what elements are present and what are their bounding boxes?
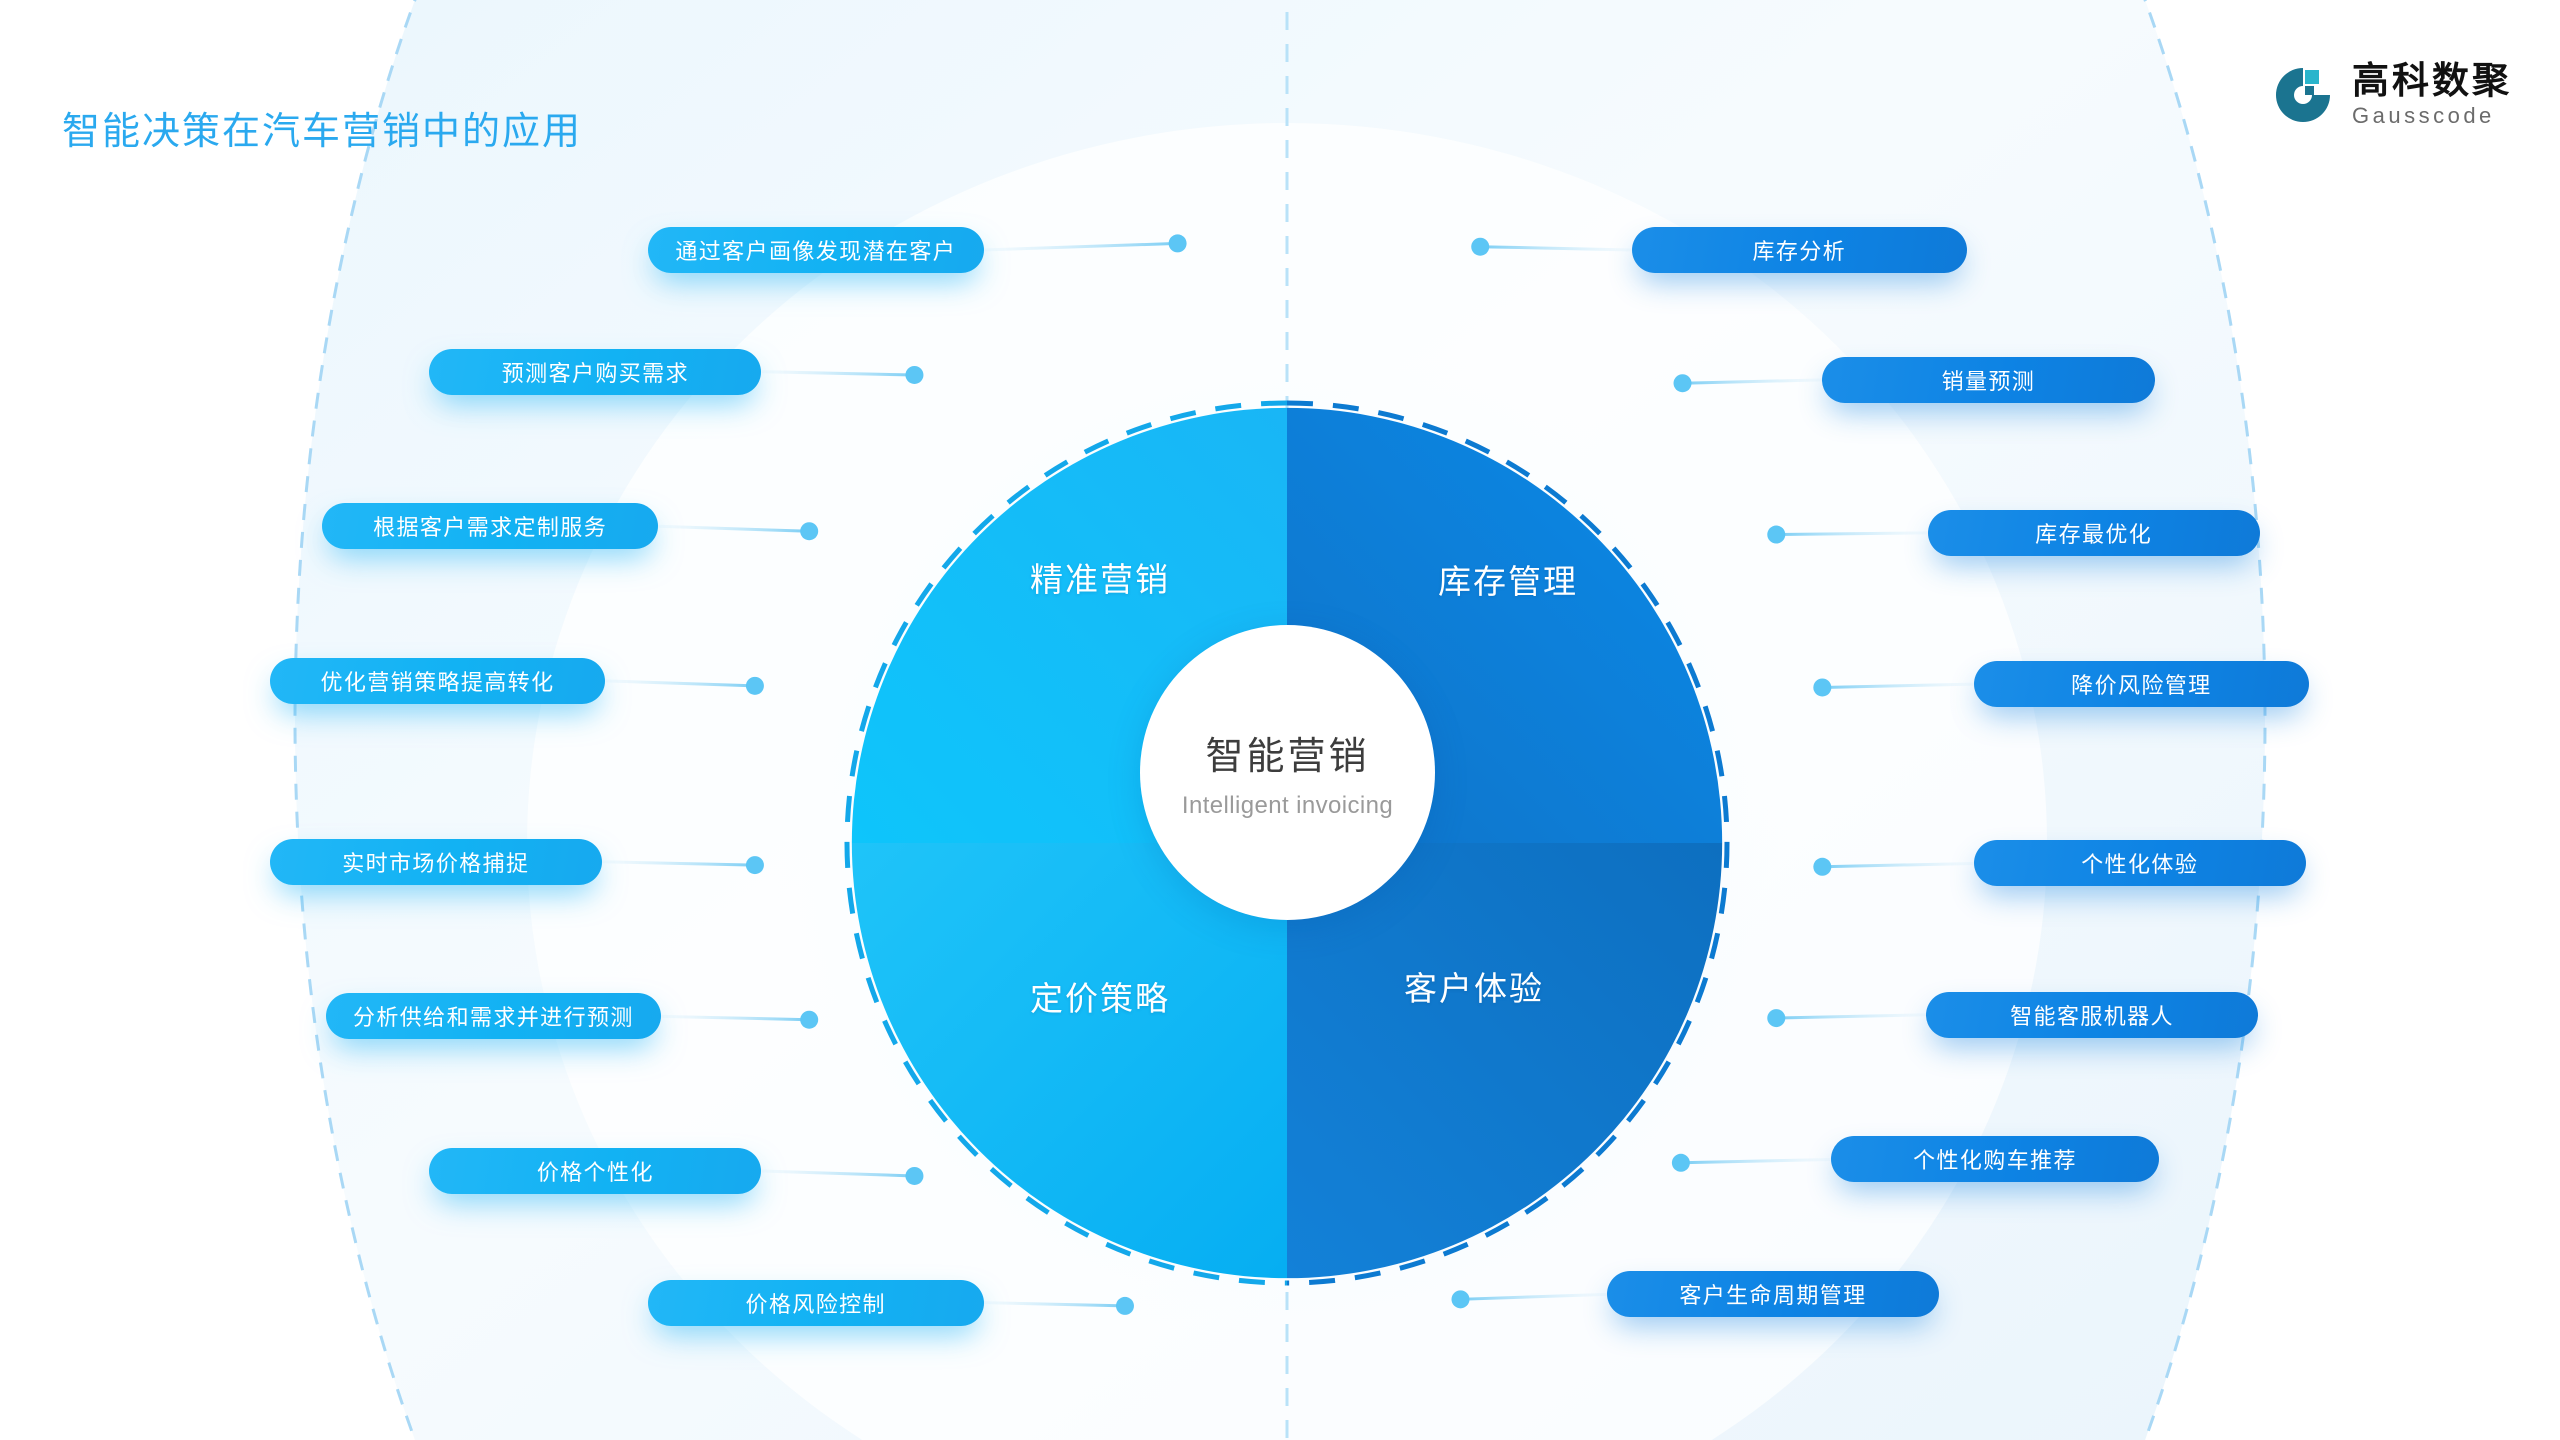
right-connector-dot-4: [1813, 678, 1831, 696]
page-title: 智能决策在汽车营销中的应用: [62, 100, 582, 155]
quadrant-bottom-right[interactable]: [1287, 843, 1722, 1278]
right-connector-dot-3: [1767, 526, 1785, 544]
left-connector-dot-1: [1169, 234, 1187, 252]
right-item-2[interactable]: 销量预测: [1822, 357, 2154, 403]
gausscode-logo-icon: [2272, 64, 2334, 126]
right-item-4[interactable]: 降价风险管理: [1974, 661, 2310, 707]
quadrant-bottom-left[interactable]: [852, 843, 1287, 1278]
right-connector-dot-5: [1813, 858, 1831, 876]
left-item-5[interactable]: 实时市场价格捕捉: [270, 839, 602, 885]
left-item-3[interactable]: 根据客户需求定制服务: [322, 503, 658, 549]
right-item-3[interactable]: 库存最优化: [1928, 510, 2260, 556]
right-item-1[interactable]: 库存分析: [1632, 227, 1968, 273]
left-connector-dot-5: [746, 856, 764, 874]
right-item-5[interactable]: 个性化体验: [1974, 840, 2306, 886]
brand-logo: 高科数聚 Gausscode: [2272, 62, 2512, 127]
quadrant-label-bottom-right: 客户体验: [1404, 962, 1544, 1010]
right-item-8[interactable]: 客户生命周期管理: [1607, 1271, 1939, 1317]
left-item-7[interactable]: 价格个性化: [429, 1148, 761, 1194]
right-item-6[interactable]: 智能客服机器人: [1926, 992, 2258, 1038]
logo-name-cn: 高科数聚: [2352, 62, 2512, 99]
left-connector-6: [661, 1016, 809, 1019]
left-item-1[interactable]: 通过客户画像发现潜在客户: [648, 227, 984, 273]
hub-label-cn: 智能营销: [1205, 725, 1369, 780]
quadrant-label-top-left: 精准营销: [1030, 553, 1170, 601]
left-item-2[interactable]: 预测客户购买需求: [429, 349, 761, 395]
right-connector-3: [1776, 533, 1927, 535]
left-connector-3: [658, 526, 809, 531]
right-item-7[interactable]: 个性化购车推荐: [1831, 1136, 2160, 1182]
right-connector-5: [1822, 863, 1973, 866]
left-connector-4: [605, 681, 755, 686]
logo-name-en: Gausscode: [2352, 105, 2512, 127]
hub-circle: 智能营销 Intelligent invoicing: [1140, 625, 1435, 920]
hub-label-en: Intelligent invoicing: [1182, 792, 1393, 820]
quadrant-label-top-right: 库存管理: [1438, 555, 1578, 603]
right-connector-6: [1776, 1015, 1926, 1018]
left-connector-5: [602, 862, 755, 865]
right-connector-dot-1: [1471, 238, 1489, 256]
right-connector-dot-6: [1767, 1009, 1785, 1027]
right-connector-1: [1480, 247, 1631, 250]
left-connector-1: [984, 243, 1178, 250]
left-connector-dot-4: [746, 677, 764, 695]
left-item-4[interactable]: 优化营销策略提高转化: [270, 658, 606, 704]
left-item-8[interactable]: 价格风险控制: [648, 1280, 984, 1326]
quadrant-label-bottom-left: 定价策略: [1030, 972, 1170, 1020]
right-connector-4: [1822, 684, 1973, 687]
left-item-6[interactable]: 分析供给和需求并进行预测: [326, 993, 662, 1039]
